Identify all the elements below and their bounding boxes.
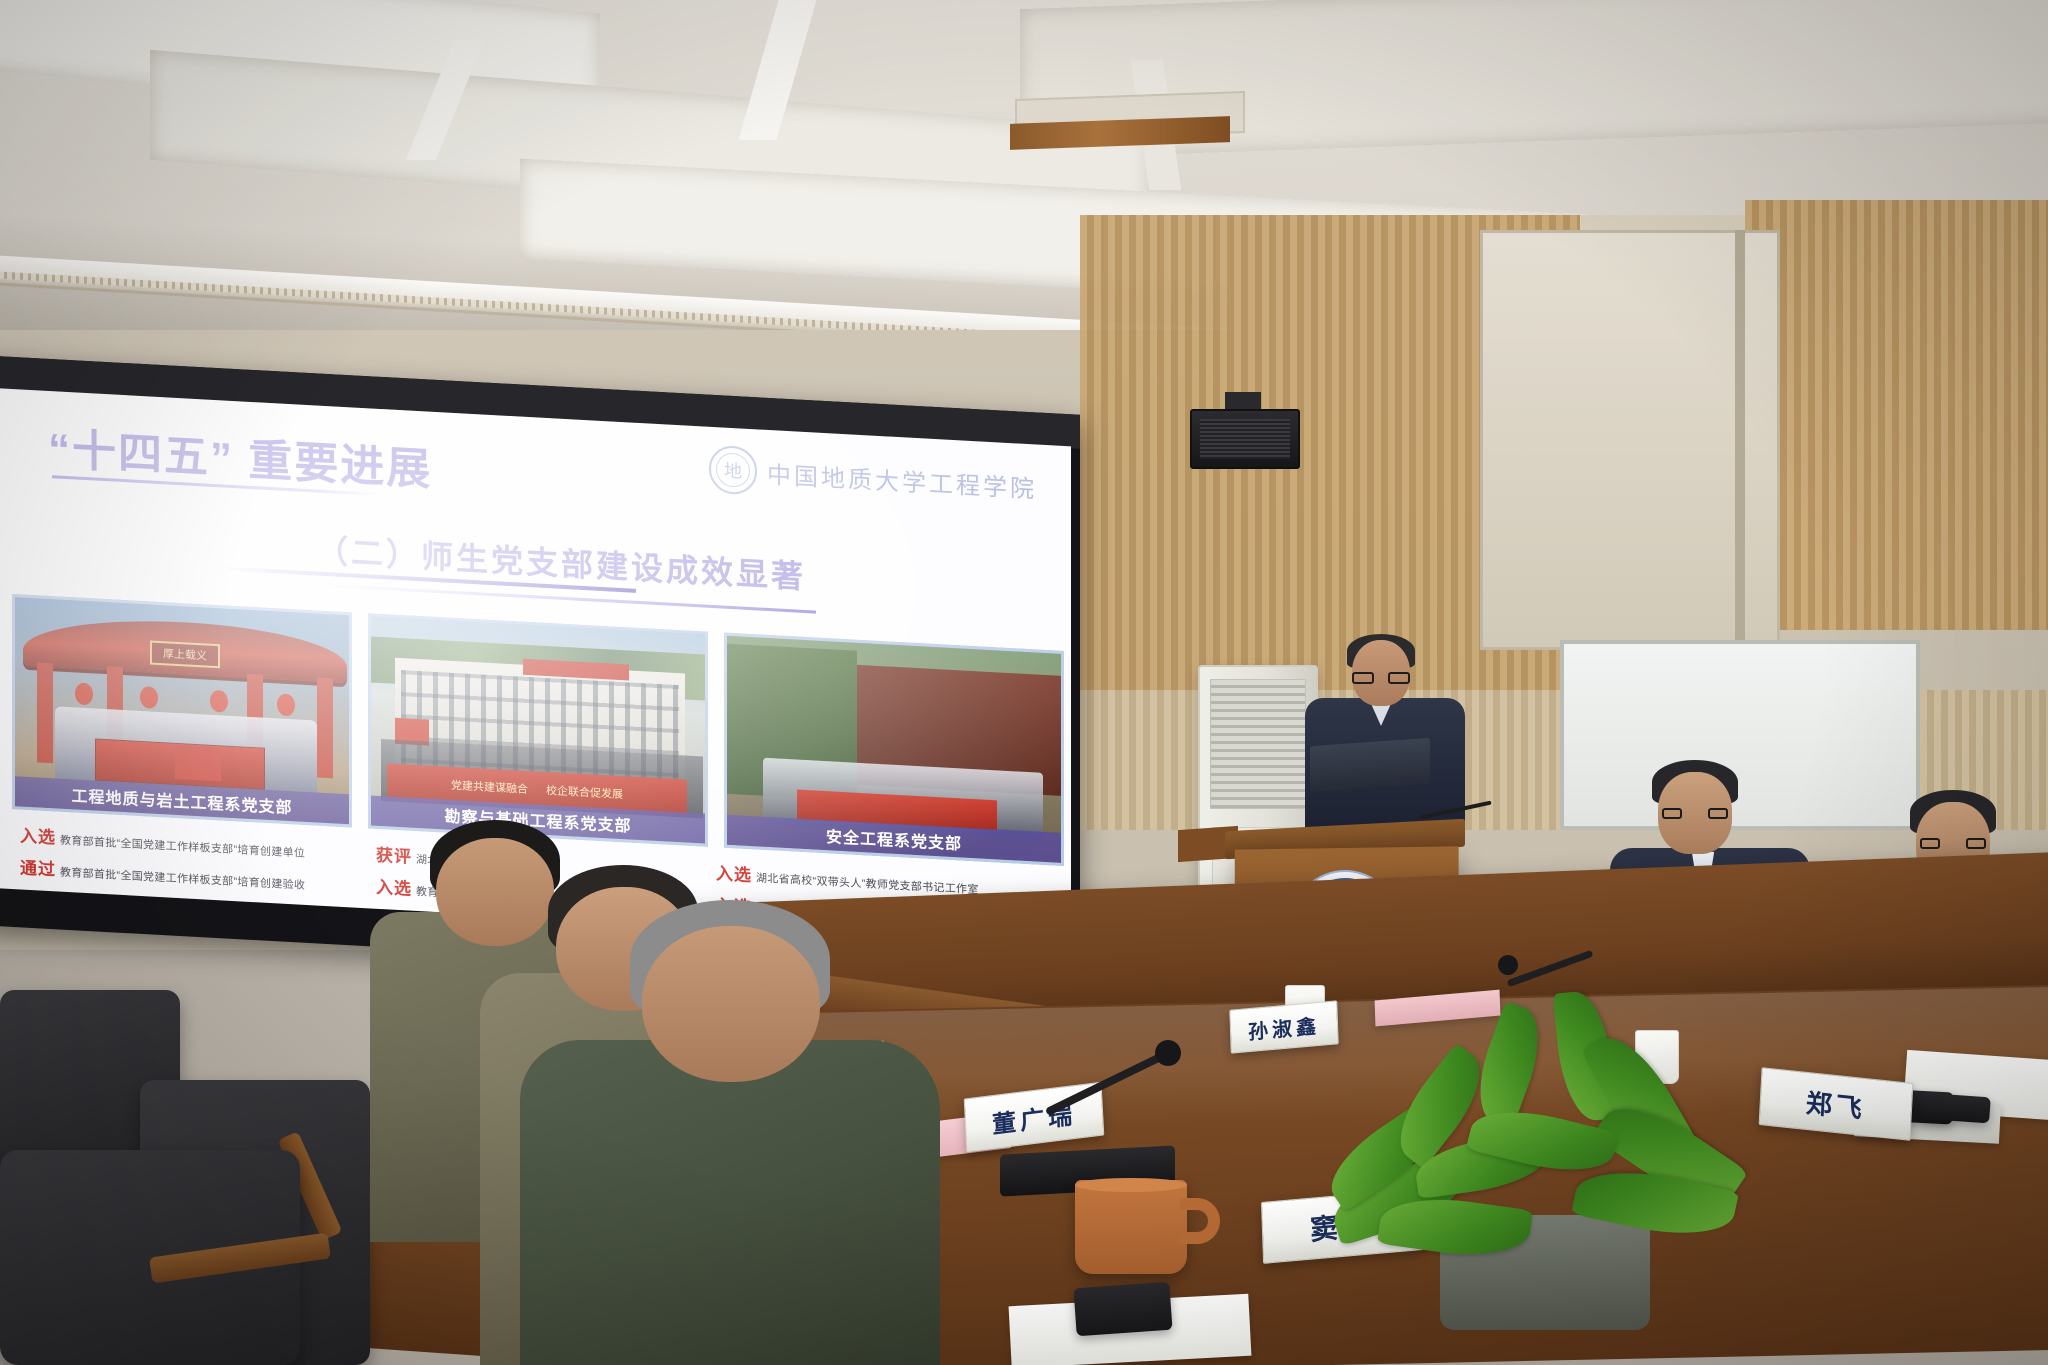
slide-institution-logo: 中国地质大学工程学院 bbox=[709, 445, 1037, 511]
eyeglasses-icon bbox=[1351, 672, 1411, 684]
university-seal-icon bbox=[709, 445, 757, 496]
wall-window-divider bbox=[1735, 230, 1745, 650]
banner-text-left: 党建共建谋融合 bbox=[451, 777, 528, 797]
smartphone-icon[interactable] bbox=[1919, 1093, 1991, 1124]
banner-text-right: 校企联合促发展 bbox=[546, 782, 623, 802]
temple-plaque: 厚上载义 bbox=[150, 641, 220, 669]
ac-grill bbox=[1210, 679, 1306, 809]
slide-photo-2: 党建共建谋融合 校企联合促发展 勘察与基础工程系党支部 bbox=[368, 613, 708, 846]
smartphone-icon[interactable] bbox=[1073, 1282, 1172, 1337]
party-flag bbox=[175, 745, 221, 781]
coffee-mug-icon bbox=[1075, 1180, 1187, 1274]
temple-column bbox=[317, 678, 333, 779]
wall-speaker-icon bbox=[1190, 409, 1300, 469]
attendee-head bbox=[642, 926, 820, 1082]
lantern-icon bbox=[75, 682, 93, 705]
conference-room-photo: “十四五” 重要进展 中国地质大学工程学院 （二）师生党支部建设成效显著 厚上载… bbox=[0, 0, 2048, 1365]
laptop-icon bbox=[1310, 738, 1430, 792]
annotation-value: 教育部首批“全国党建工作样板支部”培育创建验收 bbox=[60, 864, 305, 893]
mug-rim bbox=[1075, 1178, 1187, 1192]
temple-column bbox=[37, 662, 53, 763]
microphone-icon bbox=[1498, 955, 1518, 975]
slide-photo-3: 安全工程系党支部 bbox=[724, 633, 1064, 866]
wall-slat-panel bbox=[1745, 200, 2048, 630]
slide-logo-text: 中国地质大学工程学院 bbox=[767, 454, 1037, 504]
attendee-foreground-3 bbox=[520, 900, 940, 1365]
annotation-value: 教育部首批“全国党建工作样板支部”培育创建单位 bbox=[60, 832, 305, 861]
lantern-icon bbox=[140, 686, 158, 709]
speaker-mount-arm bbox=[1225, 392, 1261, 410]
potted-plant-icon bbox=[1320, 1020, 1760, 1330]
microphone-icon bbox=[1155, 1040, 1181, 1066]
lantern-icon bbox=[277, 693, 295, 716]
slide-photo-1: 厚上载义 工程地质与岩土工程系党支部 bbox=[12, 594, 352, 827]
speaker-grill bbox=[1200, 419, 1290, 459]
annotation-key: 入选 bbox=[20, 821, 56, 848]
eyeglasses-icon bbox=[1662, 808, 1728, 819]
lantern-icon bbox=[210, 690, 228, 713]
attendee-torso bbox=[520, 1040, 940, 1365]
annotation-key: 通过 bbox=[20, 853, 56, 880]
annotation-column-1: 入选 教育部首批“全国党建工作样板支部”培育创建单位 通过 教育部首批“全国党建… bbox=[20, 821, 350, 903]
